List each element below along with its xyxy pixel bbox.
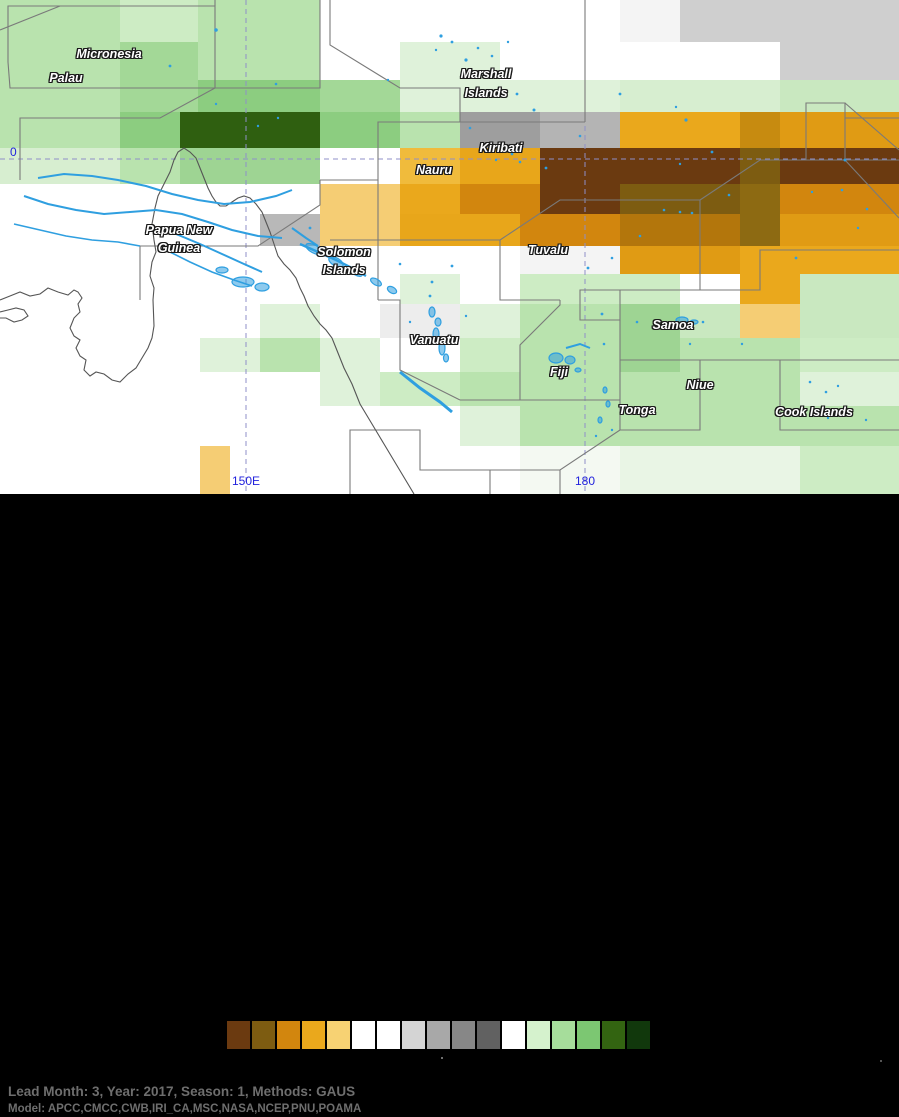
legend-panel: Lead Month: 3, Year: 2017, Season: 1, Me…	[0, 494, 899, 650]
colorbar-swatch[interactable]	[476, 1020, 501, 1050]
australia-coastline	[0, 148, 414, 494]
map-panel[interactable]: MicronesiaPalauMarshallIslandsKiribatiNa…	[0, 0, 899, 494]
caption-line-models: Model: APCC,CMCC,CWB,IRI_CA,MSC,NASA,NCE…	[8, 1101, 888, 1117]
colorbar-swatch[interactable]	[576, 1020, 601, 1050]
colorbar-tick-mark	[441, 1057, 443, 1059]
colorbar-swatch[interactable]	[226, 1020, 251, 1050]
atoll-dots	[60, 28, 868, 437]
probability-colorbar[interactable]	[226, 1020, 651, 1050]
colorbar-swatch[interactable]	[551, 1020, 576, 1050]
colorbar-swatch[interactable]	[326, 1020, 351, 1050]
caption-block: Lead Month: 3, Year: 2017, Season: 1, Me…	[8, 1082, 888, 1117]
colorbar-swatch[interactable]	[376, 1020, 401, 1050]
graticule-lines	[0, 0, 899, 494]
colorbar-swatch[interactable]	[251, 1020, 276, 1050]
colorbar-swatch[interactable]	[451, 1020, 476, 1050]
colorbar-swatch[interactable]	[426, 1020, 451, 1050]
colorbar-swatch[interactable]	[526, 1020, 551, 1050]
colorbar-swatch[interactable]	[301, 1020, 326, 1050]
colorbar-swatch[interactable]	[501, 1020, 526, 1050]
map-vector-overlay	[0, 0, 899, 494]
eez-boundaries	[0, 0, 899, 494]
colorbar-swatch[interactable]	[351, 1020, 376, 1050]
island-coastlines	[14, 174, 698, 423]
colorbar-swatch[interactable]	[401, 1020, 426, 1050]
colorbar-swatch[interactable]	[276, 1020, 301, 1050]
caption-line-primary: Lead Month: 3, Year: 2017, Season: 1, Me…	[8, 1082, 888, 1101]
climate-forecast-map-figure: MicronesiaPalauMarshallIslandsKiribatiNa…	[0, 0, 899, 650]
colorbar-swatch[interactable]	[626, 1020, 651, 1050]
colorbar-swatch[interactable]	[601, 1020, 626, 1050]
corner-marker-dot	[880, 1060, 882, 1062]
